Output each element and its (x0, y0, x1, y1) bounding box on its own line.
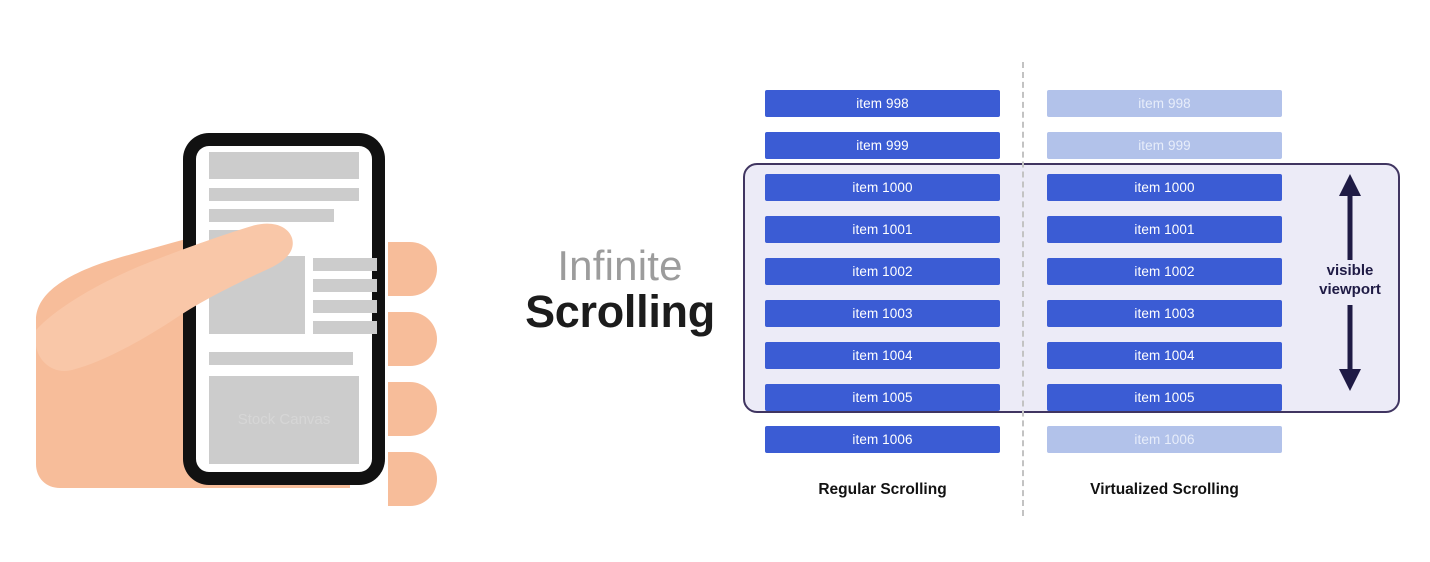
list-item[interactable]: item 1003 (765, 300, 1000, 327)
list-item[interactable]: item 1000 (1047, 174, 1282, 201)
list-item[interactable]: item 1001 (1047, 216, 1282, 243)
viewport-label-line-1: visible (1300, 262, 1400, 281)
list-item[interactable]: item 998 (765, 90, 1000, 117)
viewport-arrow-down-icon (1328, 305, 1372, 393)
caption-regular-scrolling: Regular Scrolling (765, 481, 1000, 499)
headline-line-1: Infinite (500, 243, 740, 288)
viewport-arrow-up-icon (1328, 172, 1372, 260)
screen-watermark-text: Stock Canvas (238, 411, 331, 428)
list-item[interactable]: item 1005 (1047, 384, 1282, 411)
list-item-label: item 1002 (765, 258, 1000, 285)
list-item[interactable]: item 1006 (765, 426, 1000, 453)
list-item-label: item 1004 (1047, 342, 1282, 369)
list-item-label: item 1005 (765, 384, 1000, 411)
list-item[interactable]: item 999 (1047, 132, 1282, 159)
list-item[interactable]: item 1004 (765, 342, 1000, 369)
list-item-label: item 1004 (765, 342, 1000, 369)
list-item[interactable]: item 1002 (1047, 258, 1282, 285)
caption-virtualized-scrolling: Virtualized Scrolling (1047, 481, 1282, 499)
fingers-shape (388, 242, 437, 506)
list-item-label: item 1005 (1047, 384, 1282, 411)
page-title: Infinite Scrolling (500, 243, 740, 337)
list-item[interactable]: item 998 (1047, 90, 1282, 117)
list-item-label: item 1003 (765, 300, 1000, 327)
list-item-label: item 999 (1047, 132, 1282, 159)
list-item-label: item 1006 (765, 426, 1000, 453)
list-item[interactable]: item 1006 (1047, 426, 1282, 453)
scrolling-comparison-diagram: item 998item 999item 1000item 1001item 1… (720, 0, 1430, 562)
list-item[interactable]: item 999 (765, 132, 1000, 159)
list-item-label: item 1000 (765, 174, 1000, 201)
list-item-label: item 1006 (1047, 426, 1282, 453)
list-item-label: item 1002 (1047, 258, 1282, 285)
list-item-label: item 1001 (1047, 216, 1282, 243)
list-item[interactable]: item 1003 (1047, 300, 1282, 327)
list-item-label: item 1000 (1047, 174, 1282, 201)
list-item[interactable]: item 1001 (765, 216, 1000, 243)
hand-holding-phone-illustration: Stock Canvas (0, 0, 480, 562)
headline-line-2: Scrolling (500, 288, 740, 337)
infinite-scrolling-illustration: Stock Canvas Infinite Scrolling item 998… (0, 0, 1430, 562)
column-divider (1022, 62, 1024, 516)
list-item-label: item 999 (765, 132, 1000, 159)
viewport-label-line-2: viewport (1300, 281, 1400, 300)
list-item-label: item 998 (765, 90, 1000, 117)
visible-viewport-label: visible viewport (1300, 262, 1400, 300)
list-item[interactable]: item 1002 (765, 258, 1000, 285)
list-item[interactable]: item 1004 (1047, 342, 1282, 369)
list-item[interactable]: item 1005 (765, 384, 1000, 411)
list-item-label: item 998 (1047, 90, 1282, 117)
list-item-label: item 1001 (765, 216, 1000, 243)
list-item[interactable]: item 1000 (765, 174, 1000, 201)
list-item-label: item 1003 (1047, 300, 1282, 327)
